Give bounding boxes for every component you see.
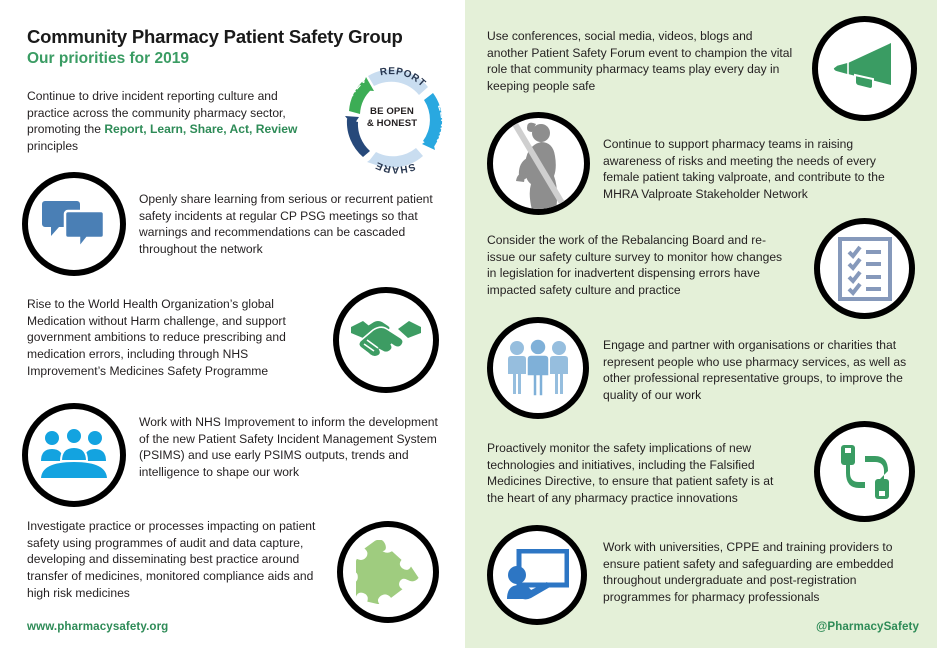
speech-bubbles-icon <box>42 197 106 251</box>
three-people-icon <box>504 339 572 397</box>
priority-psims-text: Work with NHS Improvement to inform the … <box>139 414 439 481</box>
presentation-teaching-icon-circle <box>487 525 587 625</box>
left-column-panel: Community Pharmacy Patient Safety Group … <box>0 0 465 648</box>
priority-new-technologies-text: Proactively monitor the safety implicati… <box>487 440 793 507</box>
megaphone-icon-circle <box>812 16 917 121</box>
priority-engage-partner-text: Engage and partner with organisations or… <box>603 337 915 404</box>
cycle-wheel-svg: REPORT LEARN SHARE ACT REVIEW <box>322 58 462 178</box>
megaphone-icon <box>831 41 899 97</box>
usb-connectors-icon-circle <box>814 421 915 522</box>
usb-connectors-icon <box>833 440 897 504</box>
priority-medication-without-harm-text: Rise to the World Health Organization’s … <box>27 296 317 379</box>
checklist-clipboard-icon-circle <box>814 218 915 319</box>
priority-champion-role-text: Use conferences, social media, videos, b… <box>487 28 795 95</box>
priority-share-learning-text: Openly share learning from serious or re… <box>139 191 439 258</box>
pregnant-woman-warning-icon <box>496 117 582 211</box>
text-part-plain-2: principles <box>27 139 78 153</box>
pregnant-woman-warning-icon-circle <box>487 112 590 215</box>
handshake-icon <box>349 315 423 365</box>
text-part-accent: Report, Learn, Share, Act, Review <box>104 122 297 136</box>
footer-twitter-handle[interactable]: @PharmacySafety <box>816 620 919 633</box>
puzzle-piece-icon <box>356 540 420 604</box>
infographic-poster: Community Pharmacy Patient Safety Group … <box>0 0 937 648</box>
speech-bubbles-icon-circle <box>22 172 126 276</box>
audience-group-icon <box>39 429 109 481</box>
footer-website[interactable]: www.pharmacysafety.org <box>27 620 168 633</box>
priority-education-text: Work with universities, CPPE and trainin… <box>603 539 913 606</box>
right-column-panel: Use conferences, social media, videos, b… <box>465 0 937 648</box>
presentation-teaching-icon <box>505 549 569 601</box>
page-title: Community Pharmacy Patient Safety Group <box>27 26 447 47</box>
priority-investigate-practice-text: Investigate practice or processes impact… <box>27 518 327 601</box>
priority-incident-reporting-culture-text: Continue to drive incident reporting cul… <box>27 88 317 155</box>
priority-rebalancing-board-text: Consider the work of the Rebalancing Boa… <box>487 232 793 299</box>
cycle-wheel-diagram: REPORT LEARN SHARE ACT REVIEW BE OPEN & … <box>322 58 462 178</box>
puzzle-piece-icon-circle <box>337 521 439 623</box>
priority-valproate-text: Continue to support pharmacy teams in ra… <box>603 136 913 203</box>
checklist-clipboard-icon <box>837 236 893 302</box>
handshake-icon-circle <box>333 287 439 393</box>
three-people-icon-circle <box>487 317 589 419</box>
audience-group-icon-circle <box>22 403 126 507</box>
